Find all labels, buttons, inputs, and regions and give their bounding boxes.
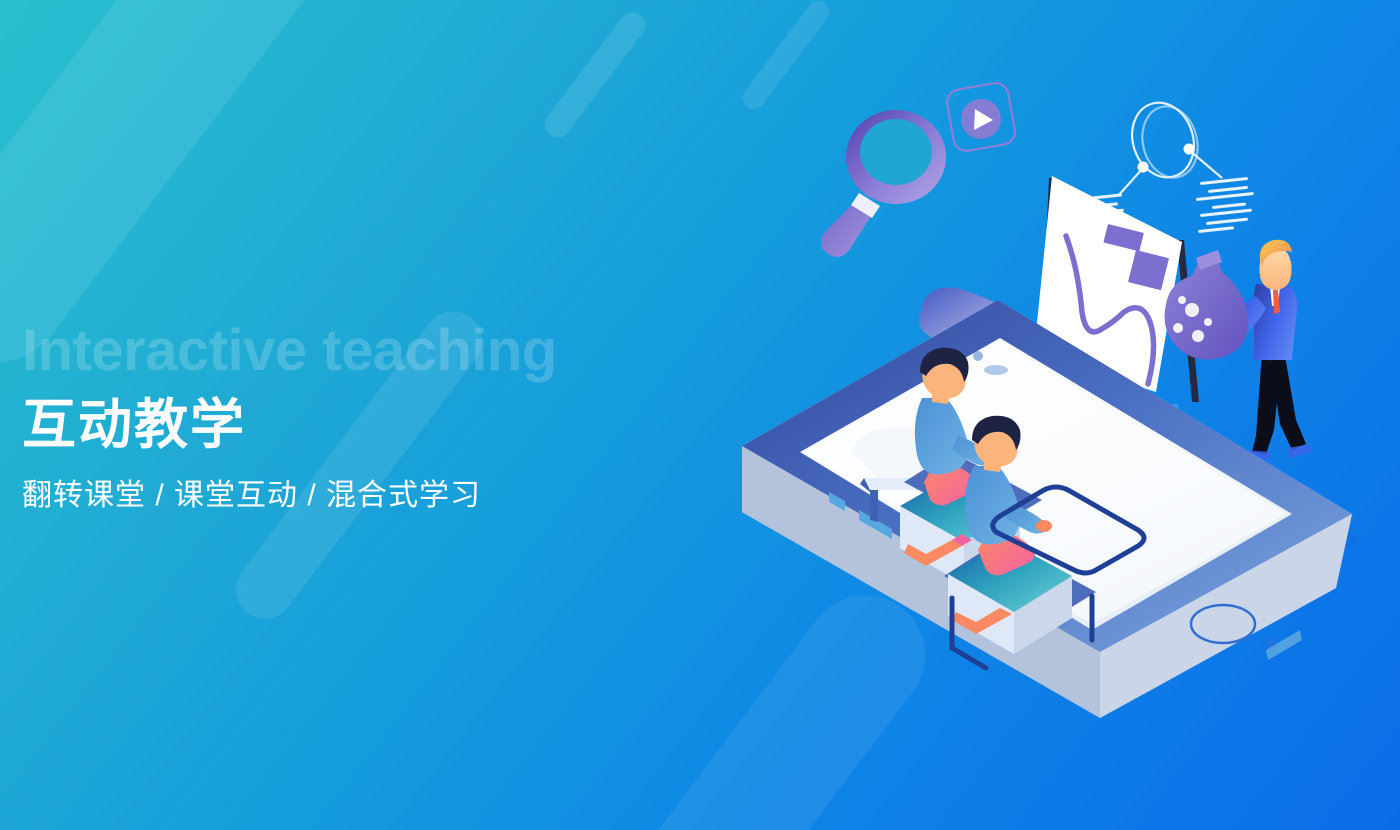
hand [1212, 330, 1230, 346]
graduation-cap-icon [919, 288, 996, 351]
desk-legs [952, 596, 1092, 668]
orbit-text-lines-left [1072, 193, 1124, 241]
student-figure-back [948, 416, 1072, 654]
desk-front-2 [944, 540, 1096, 628]
hero-illustration [700, 0, 1400, 830]
desk-front [890, 441, 1042, 530]
student-figure-front [900, 348, 1020, 584]
orbit-node-left [1138, 162, 1149, 173]
atom-orbit-icon [1118, 95, 1222, 196]
ghost-title: Interactive teaching [22, 322, 762, 380]
tablet-bottom-button [1266, 630, 1302, 660]
orbit-node-right [1184, 144, 1195, 155]
tie [1273, 290, 1280, 314]
decor-stripe-bottom [571, 571, 950, 830]
orbit-text-lines-right [1196, 177, 1254, 233]
hero-banner: Interactive teaching 互动教学 翻转课堂 / 课堂互动 / … [0, 0, 1400, 830]
tablet-side-buttons [829, 492, 978, 589]
tablet-device [742, 300, 1360, 718]
magnifier-icon [821, 110, 946, 257]
banner-text-block: Interactive teaching 互动教学 翻转课堂 / 课堂互动 / … [22, 322, 762, 514]
whiteboard-easel [1034, 176, 1199, 408]
desk-frame [993, 487, 1144, 573]
teacher-figure [1212, 240, 1312, 460]
decor-stripe-small-2 [738, 0, 834, 114]
desk-back [852, 428, 978, 526]
chat-bubble-lines [1120, 416, 1168, 456]
page-title: 互动教学 [22, 394, 762, 456]
decor-stripe-small-1 [539, 7, 650, 142]
chat-bubble-icon [1110, 404, 1178, 484]
banner-subtitle: 翻转课堂 / 课堂互动 / 混合式学习 [22, 478, 762, 514]
flask-icon [1165, 250, 1249, 360]
video-play-icon [945, 81, 1017, 153]
